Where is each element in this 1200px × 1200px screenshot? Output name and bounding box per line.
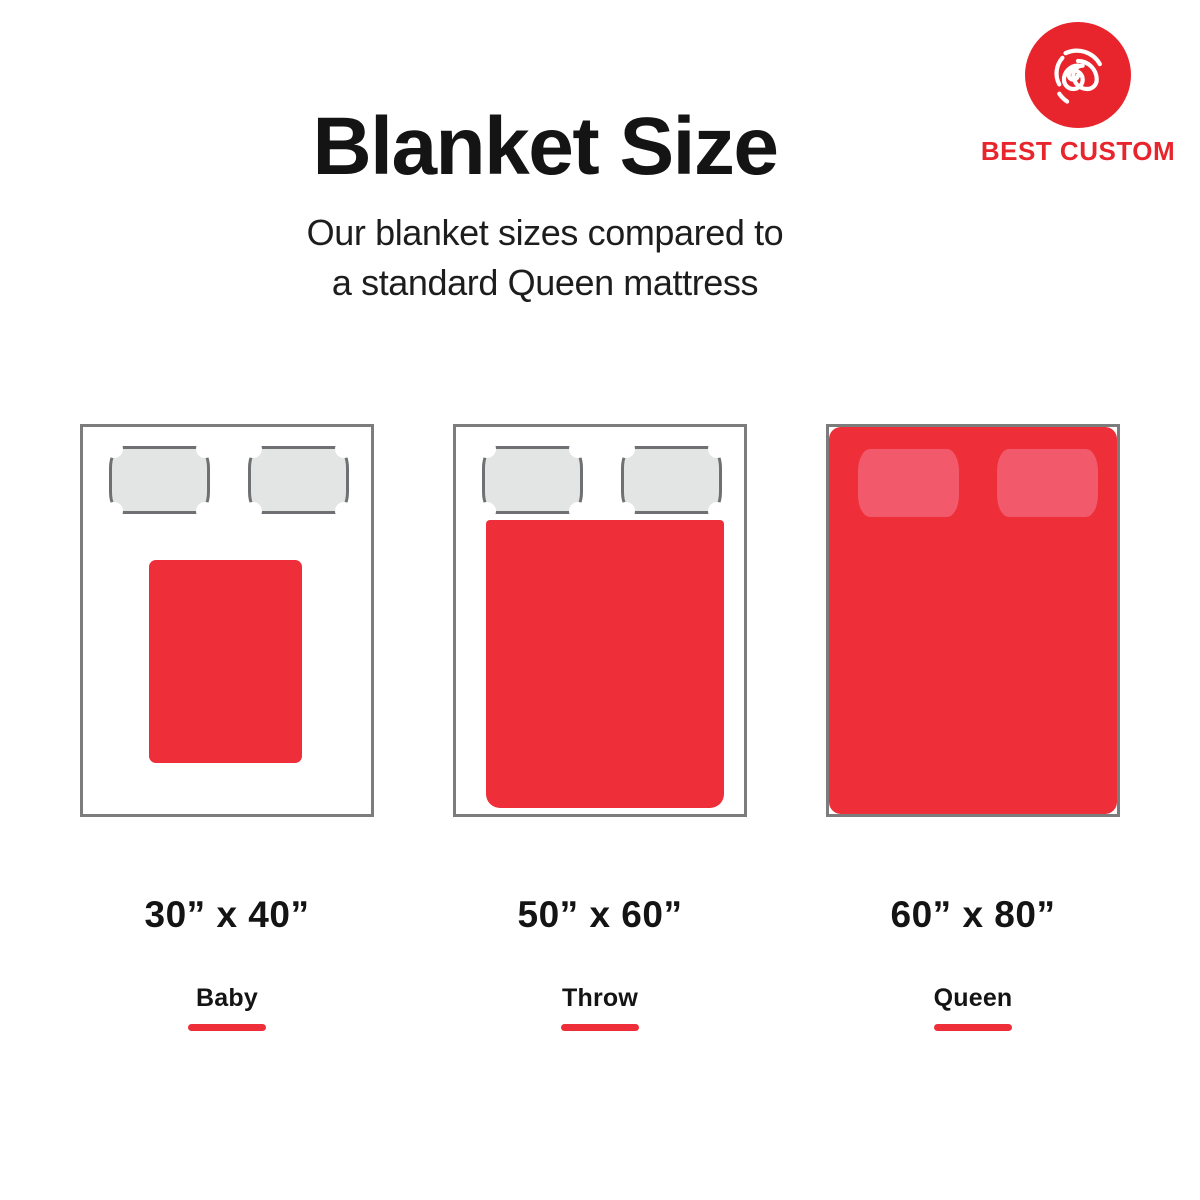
page-subtitle-line-2: a standard Queen mattress — [0, 258, 1090, 308]
blanket-swatch-queen — [829, 427, 1117, 814]
size-label-throw: 50” x 60” Throw — [453, 896, 747, 1031]
pillow-left-icon — [482, 446, 583, 514]
accent-underline — [934, 1024, 1012, 1031]
page-title: Blanket Size — [0, 104, 1090, 190]
blanket-swatch-baby — [149, 560, 302, 763]
size-name: Baby — [80, 986, 374, 1011]
page-subtitle: Our blanket sizes compared to a standard… — [0, 208, 1090, 307]
size-name: Throw — [453, 986, 747, 1011]
pillow-left-icon — [109, 446, 210, 514]
size-dimension: 50” x 60” — [453, 896, 747, 933]
accent-underline — [188, 1024, 266, 1031]
pillow-right-icon — [621, 446, 722, 514]
size-dimension: 60” x 80” — [826, 896, 1120, 933]
bed-diagram-queen — [826, 424, 1120, 817]
page-subtitle-line-1: Our blanket sizes compared to — [0, 208, 1090, 258]
size-label-queen: 60” x 80” Queen — [826, 896, 1120, 1031]
pillow-right-icon — [248, 446, 349, 514]
heading-block: Blanket Size Our blanket sizes compared … — [0, 104, 1200, 307]
blanket-swatch-throw — [486, 520, 724, 808]
pillow-right-icon — [997, 449, 1098, 517]
size-name: Queen — [826, 986, 1120, 1011]
size-label-baby: 30” x 40” Baby — [80, 896, 374, 1031]
bed-diagrams-row — [0, 424, 1200, 824]
pillow-left-icon — [858, 449, 959, 517]
accent-underline — [561, 1024, 639, 1031]
bed-diagram-baby — [80, 424, 374, 817]
size-labels-row: 30” x 40” Baby 50” x 60” Throw 60” x 80”… — [0, 896, 1200, 1056]
bed-diagram-throw — [453, 424, 747, 817]
size-dimension: 30” x 40” — [80, 896, 374, 933]
